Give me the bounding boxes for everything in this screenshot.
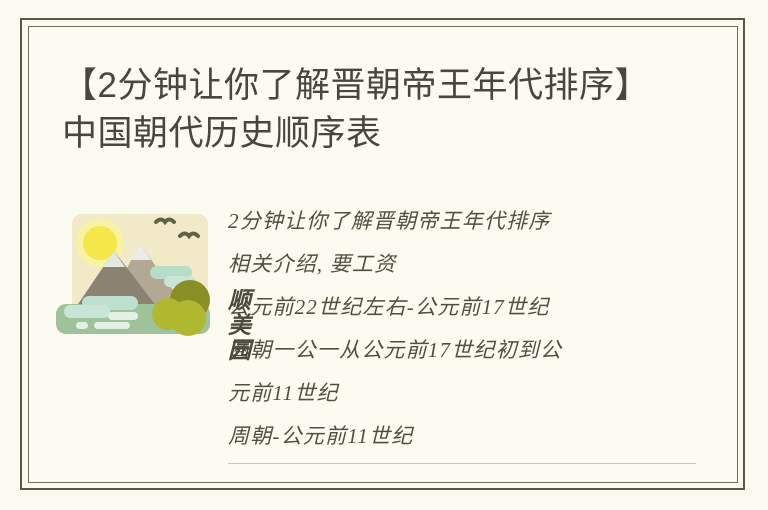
thumbnail-svg	[56, 204, 224, 344]
page-title: 【2分钟让你了解晋朝帝王年代排序】中国朝代历史顺序表	[62, 62, 682, 158]
page-root: 【2分钟让你了解晋朝帝王年代排序】中国朝代历史顺序表	[0, 0, 768, 510]
body-line: 商朝一公一从公元前17世纪初到公	[228, 329, 696, 372]
article-body-text: 2分钟让你了解晋朝帝王年代排序 相关介绍, 要工资 公元前22世纪左右-公元前1…	[228, 200, 696, 458]
body-line: 元前11世纪	[228, 372, 696, 415]
mountain-landscape-illustration	[56, 204, 224, 344]
article-content-block: 2分钟让你了解晋朝帝王年代排序 相关介绍, 要工资 公元前22世纪左右-公元前1…	[56, 200, 696, 465]
body-line: 周朝-公元前11世纪	[228, 415, 696, 458]
body-line: 公元前22世纪左右-公元前17世纪	[228, 286, 696, 329]
body-line: 2分钟让你了解晋朝帝王年代排序	[228, 200, 696, 243]
content-divider	[228, 463, 696, 464]
body-line: 相关介绍, 要工资	[228, 243, 696, 286]
